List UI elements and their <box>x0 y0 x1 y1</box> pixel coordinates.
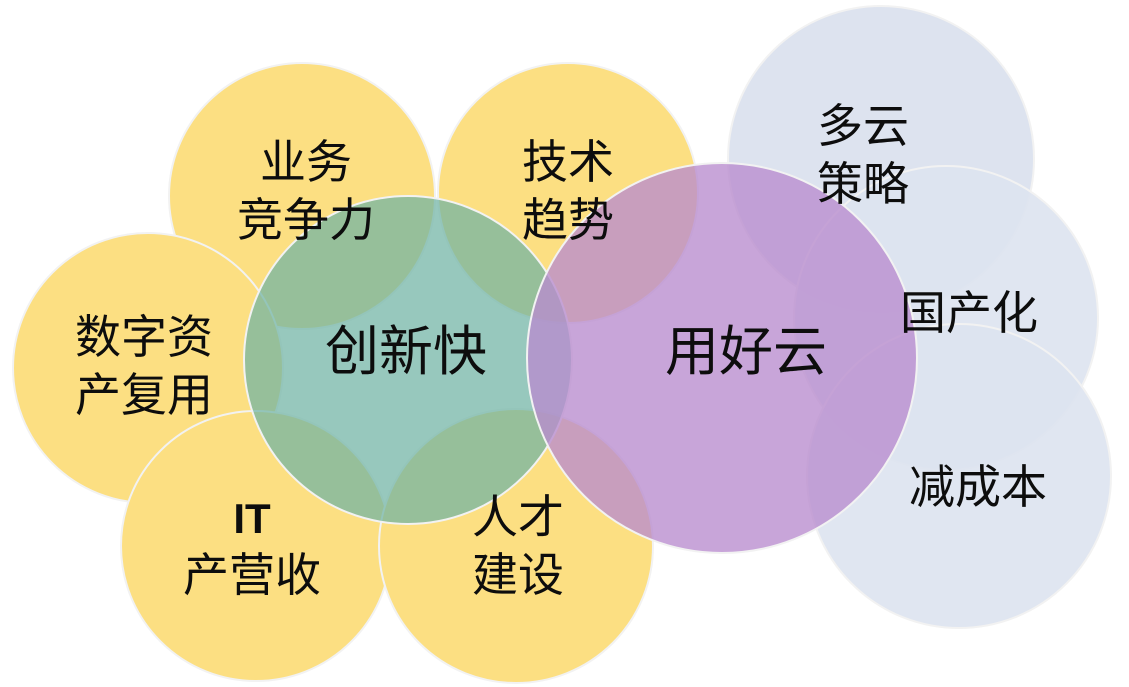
venn-label-line: 国产化 <box>900 288 1038 339</box>
venn-label-line: 人才 <box>472 492 564 543</box>
venn-label-use-cloud-well: 用好云 <box>665 322 827 382</box>
venn-label-line: 建设 <box>472 550 564 601</box>
venn-label-cost-reduction: 减成本 <box>909 462 1047 513</box>
venn-label-line: 趋势 <box>522 195 614 246</box>
venn-label-line: 策略 <box>817 159 909 210</box>
venn-label-line: 用好云 <box>665 322 827 382</box>
venn-label-line: 技术 <box>522 137 614 188</box>
venn-label-line: 竞争力 <box>237 195 375 246</box>
venn-label-line: 创新快 <box>325 322 487 382</box>
venn-diagram-canvas: 业务竞争力技术趋势数字资产复用IT产营收人才建设创新快多云策略国产化减成本用好云 <box>0 0 1129 687</box>
venn-label-domestic-substitution: 国产化 <box>900 288 1038 339</box>
venn-diagram: 业务竞争力技术趋势数字资产复用IT产营收人才建设创新快多云策略国产化减成本用好云 <box>0 0 1129 687</box>
venn-label-line: IT <box>233 495 271 542</box>
venn-label-line: 多云 <box>817 101 909 152</box>
venn-label-innovation-fast: 创新快 <box>325 322 487 382</box>
venn-label-line: 产营收 <box>183 550 321 601</box>
venn-label-line: 减成本 <box>909 462 1047 513</box>
venn-label-line: 业务 <box>260 137 352 188</box>
venn-label-line: 数字资 <box>75 312 213 363</box>
venn-label-line: 产复用 <box>75 370 213 421</box>
